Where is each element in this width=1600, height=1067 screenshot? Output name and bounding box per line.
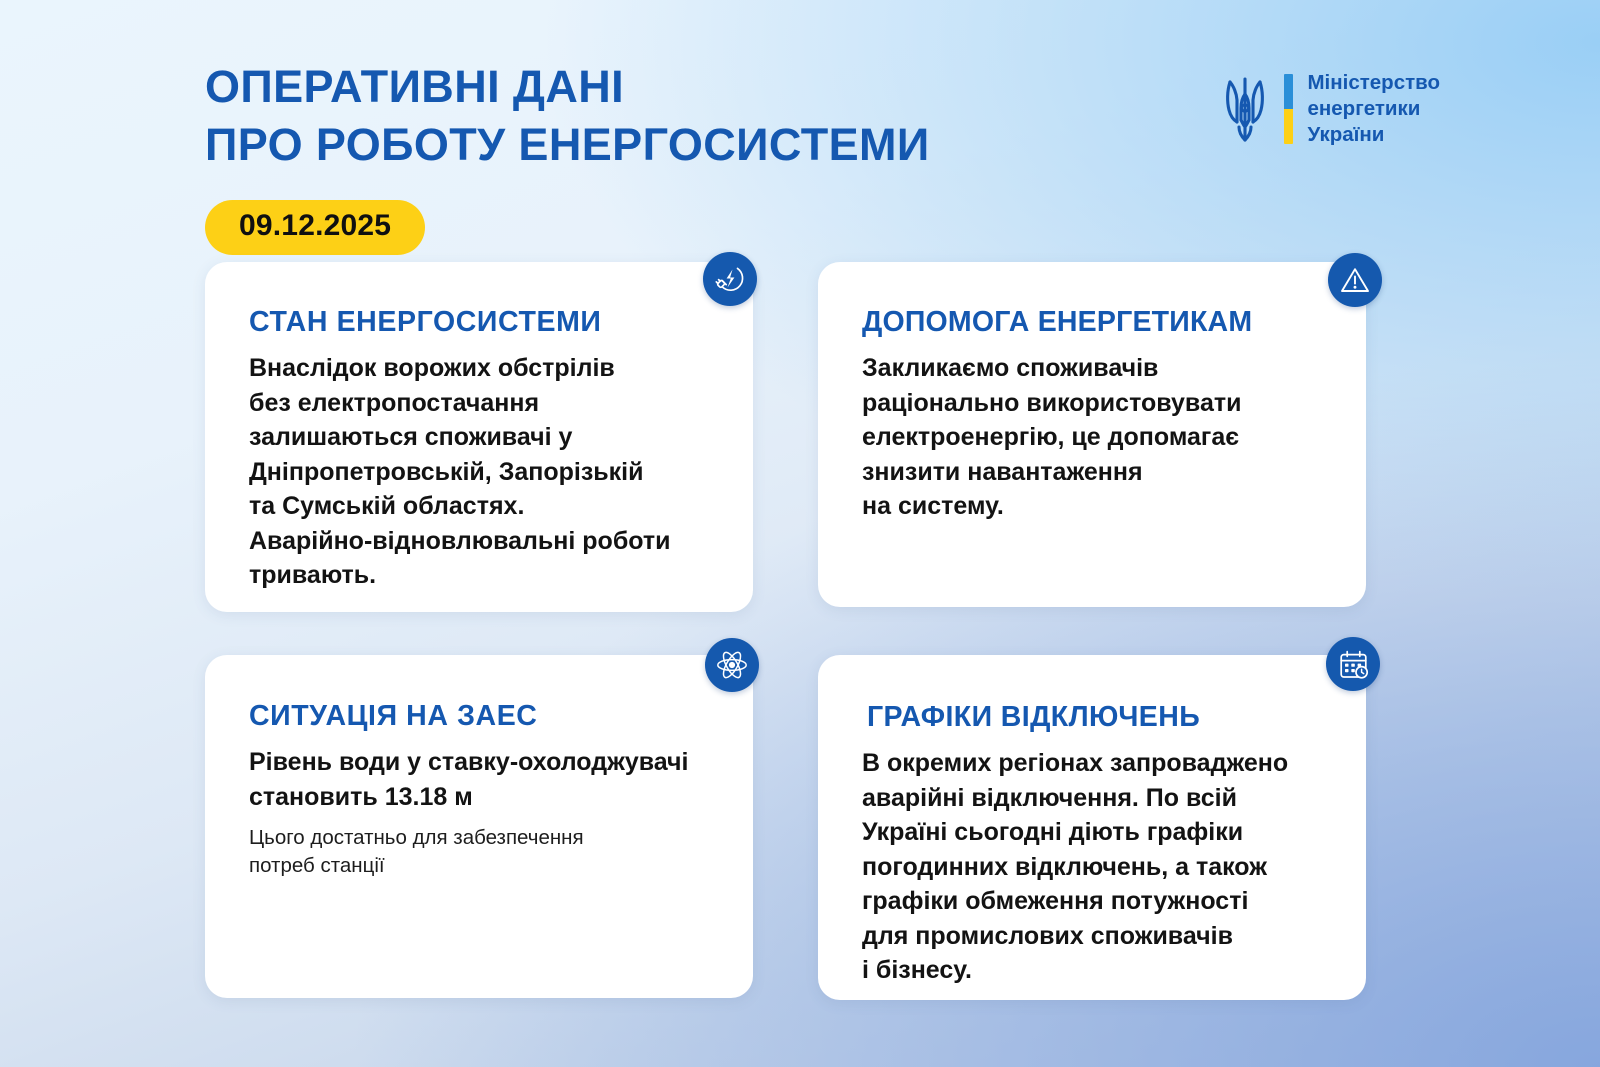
card-title: СТАН ЕНЕРГОСИСТЕМИ	[249, 306, 709, 339]
card-subtext: Цього достатньо для забезпечення потреб …	[249, 824, 709, 881]
card-body: Внаслідок ворожих обстрілів без електроп…	[249, 351, 709, 593]
card-body: Закликаємо споживачів раціонально викори…	[862, 351, 1322, 524]
trident-icon	[1220, 72, 1270, 146]
card-help-to-energy-workers: ДОПОМОГА ЕНЕРГЕТИКАМ Закликаємо споживач…	[818, 262, 1366, 607]
plug-bolt-icon	[703, 252, 757, 306]
ministry-logo: Міністерство енергетики України	[1220, 70, 1440, 149]
warning-triangle-icon	[1328, 253, 1382, 307]
card-body: В окремих регіонах запроваджено аварійні…	[862, 746, 1322, 988]
card-zaes-situation: СИТУАЦІЯ НА ЗАЕС Рівень води у ставку-ох…	[205, 655, 753, 998]
infographic-page: ОПЕРАТИВНІ ДАНІ ПРО РОБОТУ ЕНЕРГОСИСТЕМИ…	[0, 0, 1600, 1067]
logo-divider-bar	[1284, 74, 1293, 144]
card-outage-schedules: ГРАФІКИ ВІДКЛЮЧЕНЬ В окремих регіонах за…	[818, 655, 1366, 1000]
card-title: ДОПОМОГА ЕНЕРГЕТИКАМ	[862, 306, 1322, 339]
logo-text: Міністерство енергетики України	[1307, 70, 1440, 149]
calendar-clock-icon	[1326, 637, 1380, 691]
atom-icon	[705, 638, 759, 692]
card-state-of-energy-system: СТАН ЕНЕРГОСИСТЕМИ Внаслідок ворожих обс…	[205, 262, 753, 612]
card-body: Рівень води у ставку-охолоджувачі станов…	[249, 745, 709, 814]
date-badge: 09.12.2025	[205, 200, 425, 255]
card-title: СИТУАЦІЯ НА ЗАЕС	[249, 700, 709, 733]
card-title: ГРАФІКИ ВІДКЛЮЧЕНЬ	[862, 701, 1322, 734]
